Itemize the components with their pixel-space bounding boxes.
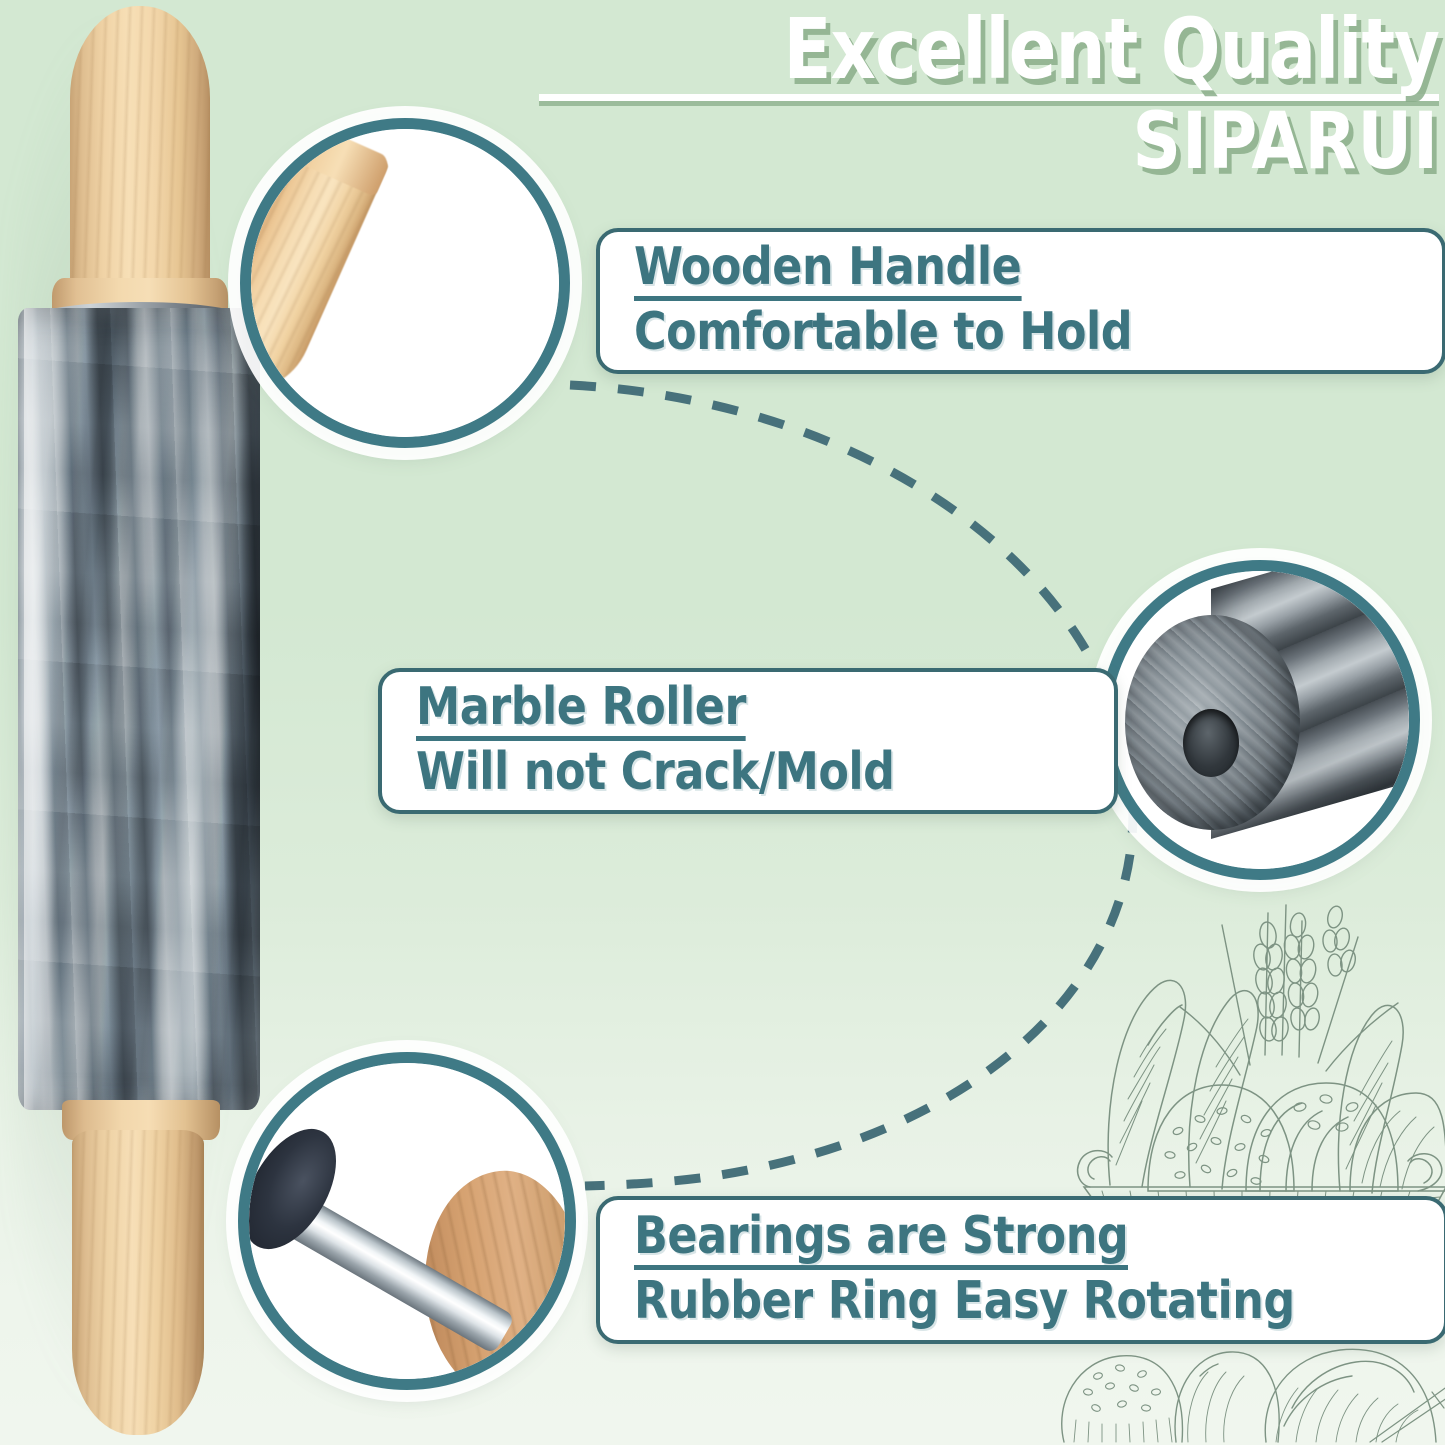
wooden-handle-top <box>70 6 210 306</box>
wooden-handle-bottom <box>72 1130 204 1435</box>
bread-loaves-illustration <box>1040 1330 1445 1445</box>
callout-marble-roller: Marble Roller Will not Crack/Mold <box>378 668 1118 814</box>
callout-subline: Rubber Ring Easy Rotating <box>634 1274 1404 1329</box>
callout-subline: Comfortable to Hold <box>634 305 1402 360</box>
callout-headline: Bearings are Strong <box>634 1209 1128 1270</box>
inset-circle-wooden-handle <box>240 118 570 448</box>
marble-roller-body <box>18 308 260 1110</box>
callout-headline: Marble Roller <box>416 680 746 741</box>
callout-headline: Wooden Handle <box>634 240 1021 301</box>
marble-highlight <box>24 308 54 1110</box>
header-title-block: Excellent Quality SIPARUI <box>539 8 1439 181</box>
bread-basket-illustration <box>1050 895 1445 1215</box>
inset-photo-marble-end <box>1111 571 1409 869</box>
wood-grain-texture <box>70 6 210 306</box>
inset-circle-marble-end <box>1100 560 1420 880</box>
inset-photo-wooden-handle <box>251 129 559 437</box>
inset-photo-bearing-rod <box>249 1063 565 1379</box>
infographic-canvas: Excellent Quality SIPARUI Wooden Handle … <box>0 0 1445 1445</box>
callout-subline: Will not Crack/Mold <box>416 745 1079 800</box>
page-title: Excellent Quality <box>602 8 1439 90</box>
marble-bore-hole <box>1183 709 1239 777</box>
callout-bearings: Bearings are Strong Rubber Ring Easy Rot… <box>596 1196 1445 1344</box>
brand-name: SIPARUI <box>575 103 1439 181</box>
wood-grain-texture <box>72 1130 204 1435</box>
callout-wooden-handle: Wooden Handle Comfortable to Hold <box>596 228 1445 374</box>
inset-circle-bearing-rod <box>238 1052 576 1390</box>
marble-veining <box>18 308 260 1110</box>
